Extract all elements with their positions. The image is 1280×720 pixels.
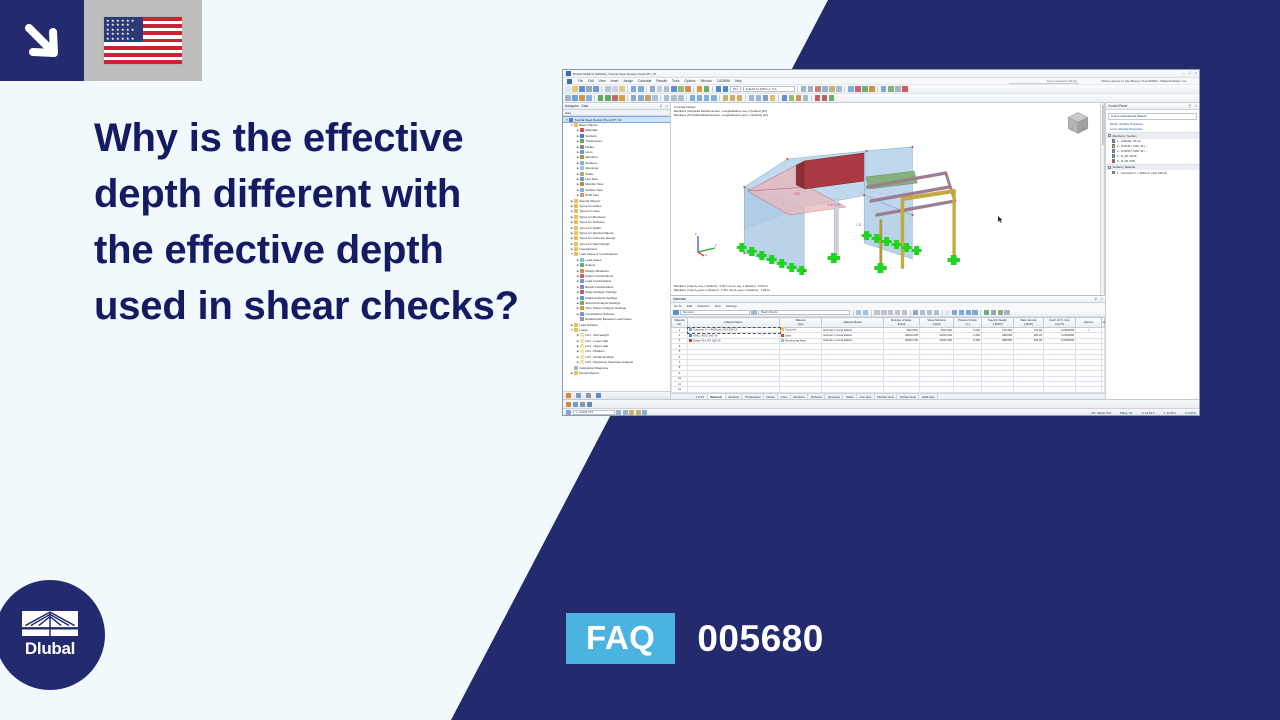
flag-graphic: ★★★★★★★★★★★★★★★★★★★★★★★★★★★★: [104, 17, 182, 64]
close-icon[interactable]: ×: [1101, 297, 1103, 301]
table-menu-settings[interactable]: Settings: [726, 304, 737, 308]
status-arrow-icon[interactable]: [587, 402, 592, 407]
deselect-icon[interactable]: [730, 95, 736, 101]
menu-item-insert[interactable]: Insert: [611, 79, 619, 83]
tree-node-icon: [574, 226, 578, 230]
text-icon[interactable]: [671, 95, 677, 101]
tree-node-icon: [580, 344, 584, 348]
column-header[interactable]: MaterialType: [780, 318, 822, 328]
column-header[interactable]: Mass Densityρ [lb/ft³]: [1014, 318, 1044, 328]
legend-color-swatch-icon: [1112, 171, 1115, 174]
tree-node-icon: [580, 301, 584, 305]
legend-item-label: 3 - W 8x55 | AISC 15 | ...: [1117, 149, 1148, 153]
toolbar-export-icon[interactable]: [888, 86, 894, 92]
solid-icon[interactable]: [645, 95, 651, 101]
tree-node-icon: [580, 317, 584, 321]
toolbar-report-icon[interactable]: [881, 86, 887, 92]
toolbar-redo-icon[interactable]: [638, 86, 644, 92]
svg-text:0.00 / 0.00: 0.00 / 0.00: [828, 203, 841, 207]
extrude-icon[interactable]: [711, 95, 717, 101]
tree-node-icon: [580, 128, 584, 132]
toolbar-separator: [942, 310, 943, 316]
basic-objects-dropdown[interactable]: Basic Objects: [758, 310, 850, 316]
toolbar-separator: [660, 95, 661, 101]
timber-design-icon[interactable]: [796, 95, 802, 101]
toolbar-paste-icon[interactable]: [619, 86, 625, 92]
svg-text:0.00: 0.00: [794, 192, 800, 196]
toolbar-calc-icon[interactable]: [697, 86, 703, 92]
table-row-delete-icon[interactable]: [881, 310, 887, 316]
tree-item-label: Surface Sets: [585, 188, 602, 192]
menu-item-results[interactable]: Results: [656, 79, 667, 83]
toolbar-separator: [871, 310, 872, 316]
table-title: Materials: [673, 297, 686, 301]
table-next-icon[interactable]: [934, 310, 940, 316]
tree-node-icon: [574, 247, 578, 251]
app-toolbar-primary[interactable]: DS1 SHEAR-13-IMPOL-1, N-S: [563, 85, 1199, 94]
header-badges: ★★★★★★★★★★★★★★★★★★★★★★★★★★★★: [0, 0, 202, 81]
control-panel: Control Panel ⚲ × Colors of Rendered Obj…: [1105, 103, 1199, 399]
colors-of-rendered-objects-field[interactable]: Colors of Rendered Objects: [1108, 113, 1197, 121]
mesh-icon[interactable]: [631, 95, 637, 101]
coordinate-system-dropdown[interactable]: 1 - Global XYZ: [573, 410, 615, 416]
status-cs-label: CS: Global XYZ: [1091, 411, 1111, 415]
table-func2-icon[interactable]: [966, 310, 972, 316]
pin-icon[interactable]: ⚲: [660, 104, 662, 108]
tree-item-label: LC2 - Lower slab: [585, 339, 608, 343]
table-pick-icon[interactable]: [863, 310, 869, 316]
app-title-text: Dlubal RFEM 6 (64000) | Tutorial Steel D…: [573, 72, 656, 76]
menu-item-cadbim[interactable]: CAD/BIM: [717, 79, 730, 83]
toolbar-table-icon[interactable]: [664, 86, 670, 92]
tree-item-label: Openings: [585, 166, 598, 170]
table-col-icon[interactable]: [888, 310, 894, 316]
app-titlebar: Dlubal RFEM 6 (64000) | Tutorial Steel D…: [563, 70, 1199, 78]
control-panel-header: Control Panel ⚲ ×: [1106, 103, 1199, 110]
table-menu-edit[interactable]: Edit: [687, 304, 692, 308]
toolbar-check-icon[interactable]: [704, 86, 710, 92]
faq-number: 005680: [697, 618, 823, 660]
tree-node-icon: [574, 323, 578, 327]
legend-section-header[interactable]: Surface | Material: [1106, 164, 1199, 171]
table-menu-view[interactable]: View: [714, 304, 720, 308]
coordinate-system-icon[interactable]: [566, 410, 571, 415]
table-prev-icon[interactable]: [927, 310, 933, 316]
svg-text:z: z: [695, 232, 697, 236]
model-view[interactable]: Concrete Design Members | Required Reinf…: [671, 103, 1105, 295]
title-line-4: used in shear checks?: [94, 278, 564, 334]
tree-node-icon: [574, 242, 578, 246]
tree-item-label: Load Cases & Combinations: [579, 252, 618, 256]
tree-node-icon: [580, 296, 584, 300]
status-bar-info[interactable]: 1 - Global XYZ CS: Global XYZ Plane: XY …: [563, 408, 1199, 416]
toolbar-separator: [910, 310, 911, 316]
tree-item-label: Loads: [579, 328, 587, 332]
column-header[interactable]: MaterialNo.: [672, 318, 688, 328]
materials-table[interactable]: MaterialNo.Material NameMaterialTypeMate…: [671, 317, 1105, 393]
column-header[interactable]: Shear ModulusG [ksi]: [920, 318, 954, 328]
status-coord-y: Y: 44.36 ft: [1163, 411, 1176, 415]
status-plane: Plane: XY: [1120, 411, 1132, 415]
nav-results-icon[interactable]: [596, 393, 601, 398]
navigator-tab-data[interactable]: Data: [565, 111, 571, 115]
mirror-icon[interactable]: [697, 95, 703, 101]
page-title: Why is the effective depth different wit…: [94, 110, 564, 334]
navigator-footer-buttons[interactable]: [563, 391, 670, 399]
toolbar-wire-icon[interactable]: [836, 86, 842, 92]
toolbar-separator: [844, 86, 845, 92]
status-coordinates: CS: Global XYZ Plane: XY X: 24.02 ft Y: …: [1091, 411, 1196, 415]
opening-icon[interactable]: [652, 95, 658, 101]
navigator-tree[interactable]: ▼Tutorial Steel Design [Test].rf6* | W▼B…: [563, 116, 670, 391]
toolbar-result-icon[interactable]: [716, 86, 722, 92]
draw-node-icon[interactable]: [565, 95, 571, 101]
table-refresh-icon[interactable]: [984, 310, 990, 316]
status-grid-icon[interactable]: [566, 402, 571, 407]
render-mode-icon[interactable]: [763, 95, 769, 101]
tree-node-icon: [574, 220, 578, 224]
lighting-icon[interactable]: [770, 95, 776, 101]
support-node-icon[interactable]: [598, 95, 604, 101]
toolbar-pan-icon[interactable]: [808, 86, 814, 92]
menu-item-view[interactable]: View: [599, 79, 606, 83]
mouse-cursor-icon: [998, 216, 1003, 223]
nav-views-icon[interactable]: [586, 393, 591, 398]
toolbar-separator: [853, 310, 854, 316]
tree-node-icon: [569, 118, 573, 122]
tree-node-icon: [580, 193, 584, 197]
toolbar-save-icon[interactable]: [579, 86, 585, 92]
tree-item-label: Static Analysis Settings: [585, 290, 617, 294]
structure-icon[interactable]: [673, 310, 679, 316]
tree-node-icon: [574, 252, 578, 256]
guideline-icon[interactable]: [636, 410, 641, 415]
menu-item-tools[interactable]: Tools: [672, 79, 679, 83]
legend-section-label: Surface | Material: [1113, 165, 1136, 169]
nav-display-icon[interactable]: [576, 393, 581, 398]
column-header[interactable]: Material Model: [822, 318, 884, 328]
menu-item-options[interactable]: Options: [684, 79, 695, 83]
toolbar-copy-icon[interactable]: [612, 86, 618, 92]
tree-item-label: Tutorial Steel Design [Test].rf6* | W: [574, 118, 621, 122]
menu-item-window[interactable]: Window: [700, 79, 711, 83]
toolbar-help2-icon[interactable]: [902, 86, 908, 92]
svg-text:1.35: 1.35: [856, 223, 862, 227]
array-icon[interactable]: [704, 95, 710, 101]
tree-item-label: LC4 - Platform: [585, 349, 605, 353]
tree-item-label: Solids: [585, 172, 593, 176]
column-header[interactable]: Poisson's Ratioν [-]: [954, 318, 982, 328]
alu-design-icon[interactable]: [803, 95, 809, 101]
toolbar-shear-icon[interactable]: [862, 86, 868, 92]
toolbar-separator: [686, 95, 687, 101]
move-icon[interactable]: [690, 95, 696, 101]
menu-item-assign[interactable]: Assign: [623, 79, 633, 83]
draw-member-icon[interactable]: [579, 95, 585, 101]
table-fx-icon[interactable]: [959, 310, 965, 316]
status-coord-x: X: 24.02 ft: [1142, 411, 1155, 415]
tree-node-icon: [580, 134, 584, 138]
window-buttons[interactable]: – □ ×: [1183, 71, 1197, 75]
licence-status: Online Licence 2 | Alex Bacon | Test-523…: [1101, 79, 1187, 83]
tree-node-icon: [580, 274, 584, 278]
table-filter-icon[interactable]: [902, 310, 908, 316]
table-body[interactable]: 1Concrete f'c = 4000 psi | ACI 318-19Con…: [672, 328, 1105, 394]
status-eye-icon[interactable]: [573, 402, 578, 407]
toolbar-separator: [712, 86, 713, 92]
filter-icon[interactable]: [737, 95, 743, 101]
tree-item-label: Types for Lines: [579, 209, 600, 213]
tree-item-label: Load Cases: [585, 258, 601, 262]
application-screenshot: Dlubal RFEM 6 (64000) | Tutorial Steel D…: [562, 69, 1200, 416]
toolbar-separator: [693, 86, 694, 92]
table-new-icon[interactable]: [945, 310, 951, 316]
table-print-icon[interactable]: [991, 310, 997, 316]
nav-data-icon[interactable]: [566, 393, 571, 398]
measure-icon[interactable]: [678, 95, 684, 101]
control-panel-body[interactable]: Colors of Rendered Objects Mode | Displa…: [1106, 110, 1199, 399]
toolbar-axial-icon[interactable]: [869, 86, 875, 92]
app-toolbar-secondary[interactable]: [563, 94, 1199, 103]
table-header-row: MaterialNo.Material NameMaterialTypeMate…: [672, 318, 1105, 328]
column-header[interactable]: Specific Weightγ [lbf/ft³]: [982, 318, 1014, 328]
close-icon[interactable]: ×: [1195, 71, 1197, 75]
steel-design-icon[interactable]: [782, 95, 788, 101]
toolbar-grid-icon[interactable]: [650, 86, 656, 92]
status-coord-z: Z: 0.00 ft: [1185, 411, 1196, 415]
toolbar-separator: [594, 95, 595, 101]
toolbar-undo-icon[interactable]: [631, 86, 637, 92]
select-all-icon[interactable]: [723, 95, 729, 101]
dimension-icon[interactable]: [664, 95, 670, 101]
structure-3d-model[interactable]: 0.00 0.00 / 0.00 1.35: [671, 103, 1104, 295]
model-view-scrollbar[interactable]: [1100, 103, 1104, 295]
dynamic-icon[interactable]: [815, 95, 821, 101]
close-icon[interactable]: ×: [1195, 104, 1197, 108]
tree-node-icon: [574, 366, 578, 370]
column-header[interactable]: Material Name: [688, 318, 780, 328]
tree-item-label: Sections: [585, 134, 597, 138]
table-row-insert-icon[interactable]: [874, 310, 880, 316]
tree-item-label: Load Wizards: [579, 323, 598, 327]
legend-item-label: 5 - R_M1 6/25: [1117, 159, 1135, 163]
navigator-panel: Navigator - Data ⚲ × Data ▼Tutorial Stee…: [563, 103, 671, 399]
table-header: Materials ⚲ ×: [671, 296, 1105, 303]
table-copy-icon[interactable]: [920, 310, 926, 316]
basic-objects-icon[interactable]: [751, 310, 757, 316]
legend-item-label: 2 - W 8x31 | AISC 15 | ...: [1117, 144, 1148, 148]
maximize-icon[interactable]: □: [1189, 71, 1191, 75]
toolbar-new-icon[interactable]: [565, 86, 571, 92]
model-view-bottom-labels: Members | max Aₛ,req,-z (bottom) : 0.00 …: [674, 284, 770, 292]
toolbar-moment-icon[interactable]: [855, 86, 861, 92]
result-max-provided: Members | max Aₛ,prov,-z (bottom) : 1.35…: [674, 288, 770, 292]
tree-node-icon: [580, 166, 584, 170]
tree-node-icon: [574, 209, 578, 213]
legend-item[interactable]: 1 - Concrete f'c = 4000 psi | ACI 318-19: [1106, 170, 1199, 175]
toolbar-colors-icon[interactable]: [685, 86, 691, 92]
tree-item-label: Modal Analysis Settings: [585, 296, 617, 300]
toolbar-cut-icon[interactable]: [605, 86, 611, 92]
object-snap-icon[interactable]: [629, 410, 634, 415]
legend-section-header[interactable]: Members | Section: [1106, 132, 1199, 139]
color-swatch-icon: [781, 334, 784, 337]
stability-icon[interactable]: [822, 95, 828, 101]
table-sort-icon[interactable]: [895, 310, 901, 316]
load-case-combo[interactable]: SHEAR-13-IMPOL-1, N-S: [743, 86, 795, 92]
faq-footer: FAQ 005680: [566, 613, 824, 664]
status-render-icon[interactable]: [580, 402, 585, 407]
tree-item-label: Nodes: [585, 145, 594, 149]
close-icon[interactable]: ×: [666, 104, 668, 108]
tree-node-icon: [574, 231, 578, 235]
bridge-truss-icon: [22, 611, 78, 637]
table-select-icon[interactable]: [856, 310, 862, 316]
structure-filter-dropdown[interactable]: Structure: [680, 310, 750, 316]
legend-color-swatch-icon: [1112, 144, 1115, 147]
pin-icon[interactable]: ⚲: [1189, 104, 1191, 108]
control-panel-legend[interactable]: Members | Section1 - CIRCLE_HF 122 - W 8…: [1106, 132, 1199, 175]
toolbar-zoom-icon[interactable]: [801, 86, 807, 92]
concrete-design-icon[interactable]: [789, 95, 795, 101]
toolbar-render-icon[interactable]: [671, 86, 677, 92]
tree-node-icon: [580, 312, 584, 316]
column-header[interactable]: Coeff. of Th. Exp.α [1/°F]: [1044, 318, 1076, 328]
tree-item-label: Types for Surfaces: [579, 220, 604, 224]
planes-icon[interactable]: [642, 410, 647, 415]
column-header[interactable]: Modulus of Elast.E [ksi]: [884, 318, 920, 328]
arrow-down-right-icon: [0, 0, 84, 81]
checkbox[interactable]: [1108, 134, 1111, 137]
tree-item-label: LC3 - Upper slab: [585, 344, 608, 348]
draw-line-icon[interactable]: [572, 95, 578, 101]
ortho-icon[interactable]: [623, 410, 628, 415]
hinge-icon[interactable]: [612, 95, 618, 101]
tree-item-label: Types for Nodes: [579, 204, 601, 208]
title-line-2: depth different with: [94, 166, 564, 222]
menu-item-calculate[interactable]: Calculate: [638, 79, 651, 83]
table-menu-selection[interactable]: Selection: [697, 304, 709, 308]
support-line-icon[interactable]: [605, 95, 611, 101]
tree-item[interactable]: ▶Result Objects: [563, 370, 670, 375]
toolbar-section-icon[interactable]: [829, 86, 835, 92]
tree-item-label: Imperfections: [579, 247, 597, 251]
clipping-icon[interactable]: [756, 95, 762, 101]
toolbar-open-icon[interactable]: [572, 86, 578, 92]
materials-grid[interactable]: MaterialNo.Material NameMaterialTypeMate…: [671, 317, 1105, 393]
legend-color-swatch-icon: [1112, 149, 1115, 152]
tree-node-icon: [580, 285, 584, 289]
toolbar-fit-icon[interactable]: [822, 86, 828, 92]
toolbar-snap-icon[interactable]: [657, 86, 663, 92]
tree-node-icon: [580, 339, 584, 343]
table-toolbar[interactable]: Structure Basic Objects: [671, 309, 1105, 317]
tree-item-label: Combination Wizards: [585, 312, 614, 316]
draw-surface-icon[interactable]: [586, 95, 592, 101]
tree-item-label: Result Objects: [579, 371, 599, 375]
pin-icon[interactable]: ⚲: [1095, 297, 1097, 301]
optimize-icon[interactable]: [829, 95, 835, 101]
toolbar-settings-icon[interactable]: [895, 86, 901, 92]
tree-node-icon: [580, 188, 584, 192]
tree-item-label: Load Combinations: [585, 279, 611, 283]
table-formula-icon[interactable]: [952, 310, 958, 316]
checkbox[interactable]: [1108, 166, 1111, 169]
tree-item-label: Result Combinations: [585, 285, 613, 289]
legend-item-label: 4 - R_M1 12/16: [1117, 154, 1137, 158]
color-swatch-icon: [689, 334, 692, 337]
toolbar-separator: [601, 86, 602, 92]
table-help-icon[interactable]: [1004, 310, 1010, 316]
tree-node-icon: [580, 177, 584, 181]
tree-item-label: Members: [585, 155, 598, 159]
toolbar-result2-icon[interactable]: [723, 86, 729, 92]
menu-item-help[interactable]: Help: [735, 79, 742, 83]
tree-item-label: Line Sets: [585, 177, 598, 181]
control-panel-title: Control Panel: [1108, 104, 1127, 108]
status-bar-tools[interactable]: [563, 399, 1199, 408]
toolbar-layers-icon[interactable]: [678, 86, 684, 92]
table-menu-goto[interactable]: Go To: [674, 304, 682, 308]
table-cut-icon[interactable]: [913, 310, 919, 316]
tree-node-icon: [580, 279, 584, 283]
menu-home-icon[interactable]: [567, 79, 572, 84]
tree-item-label: Action Combinations: [585, 274, 613, 278]
design-situation-combo[interactable]: DS1: [730, 86, 741, 92]
toolbar-deform-icon[interactable]: [848, 86, 854, 92]
app-menubar[interactable]: File Edit View Insert Assign Calculate R…: [563, 78, 1199, 85]
tree-node-icon: [580, 290, 584, 294]
legend-color-swatch-icon: [1112, 159, 1115, 162]
svg-text:y: y: [715, 243, 717, 247]
tree-node-icon: [580, 263, 584, 267]
search-input[interactable]: Type a keyword (Alt+Q): [1009, 79, 1079, 84]
visibility-icon[interactable]: [749, 95, 755, 101]
load-icon[interactable]: [619, 95, 625, 101]
tree-item-label: Types for Special Objects: [579, 231, 614, 235]
toolbar-rotate-icon[interactable]: [815, 86, 821, 92]
column-header[interactable]: Options: [1076, 318, 1102, 328]
tree-item-label: Lines: [585, 150, 592, 154]
tree-node-icon: [580, 333, 584, 337]
tree-node-icon: [580, 139, 584, 143]
table-func3-icon[interactable]: [972, 310, 978, 316]
title-line-1: Why is the effective: [94, 110, 564, 166]
minimize-icon[interactable]: –: [1183, 71, 1185, 75]
menu-item-file[interactable]: File: [578, 79, 583, 83]
toolbar-print-icon[interactable]: [586, 86, 592, 92]
legend-section-label: Members | Section: [1113, 134, 1137, 138]
tree-node-icon: [580, 360, 584, 364]
center-column: Concrete Design Members | Required Reinf…: [671, 103, 1105, 399]
tree-item-label: Spectral Analysis Settings: [585, 301, 620, 305]
legend-item-label: 1 - CIRCLE_HF 12: [1117, 139, 1141, 143]
svg-text:Y: Y: [1071, 126, 1073, 130]
toolbar-preview-icon[interactable]: [593, 86, 599, 92]
title-line-3: the effective depth: [94, 222, 564, 278]
tree-node-icon: [574, 371, 578, 375]
tree-item-label: Solid Sets: [585, 193, 599, 197]
tree-node-icon: [580, 155, 584, 159]
table-export-icon[interactable]: [998, 310, 1004, 316]
view-cube-icon[interactable]: Y X: [1064, 109, 1092, 137]
snap-grid-icon[interactable]: [616, 410, 621, 415]
tree-item-label: Member Sets: [585, 182, 603, 186]
menu-item-edit[interactable]: Edit: [588, 79, 594, 83]
fe-mesh-icon[interactable]: [638, 95, 644, 101]
toolbar-separator: [980, 310, 981, 316]
color-swatch-icon: [781, 328, 784, 331]
